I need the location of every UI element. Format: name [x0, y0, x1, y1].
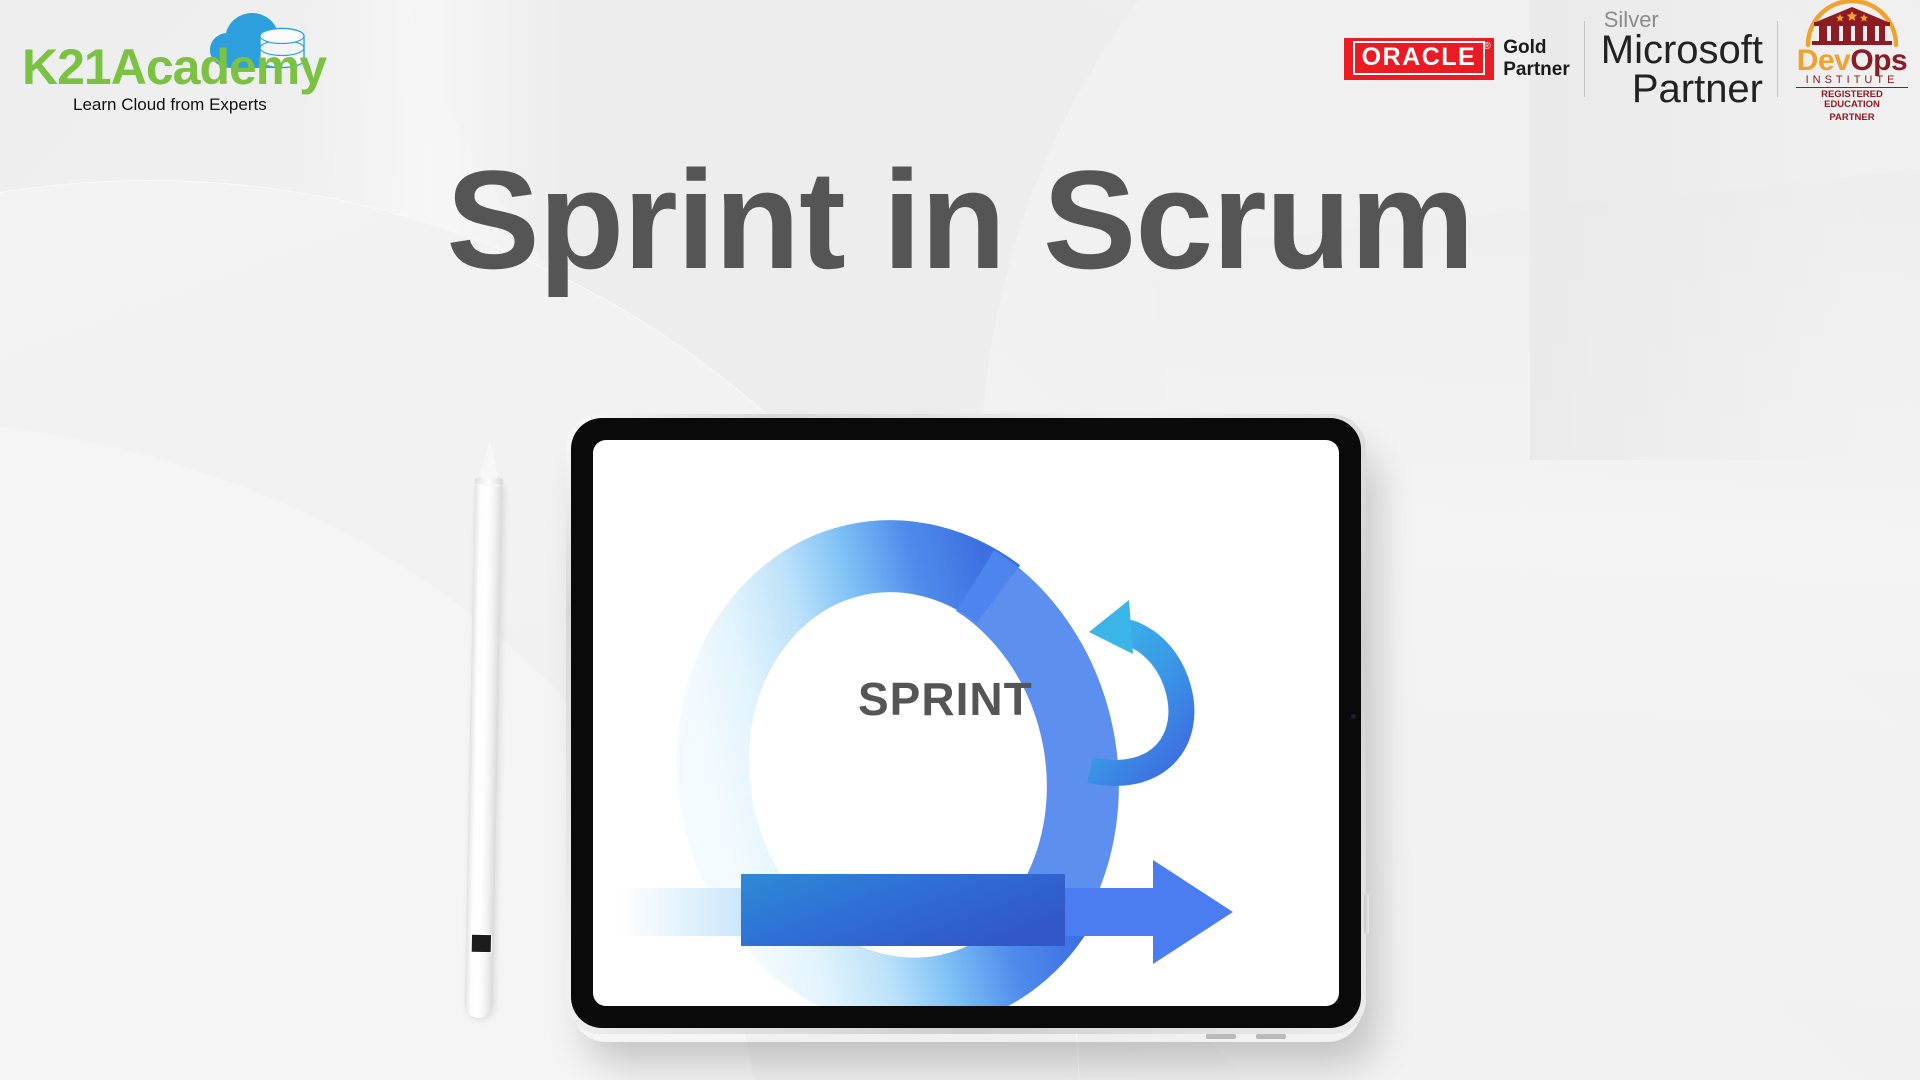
microsoft-wordmark: Microsoft [1601, 31, 1763, 69]
oracle-gold-partner-logo: ORACLE ® Gold Partner [1344, 37, 1584, 81]
tablet-foot-left [1206, 1034, 1236, 1039]
devops-dev-text: Dev [1797, 44, 1851, 77]
stylus-label [471, 934, 492, 953]
sprint-cycle-graphic: SPRINT [593, 440, 1339, 1006]
sprint-center-label: SPRINT [858, 673, 1033, 725]
oracle-wordmark-badge: ORACLE ® [1344, 38, 1495, 80]
tablet-screen[interactable]: SPRINT [593, 440, 1339, 1006]
oracle-level-line1: Gold [1503, 37, 1570, 59]
brand-name: K21Academy [22, 38, 326, 96]
tablet-camera-icon [1351, 714, 1356, 719]
oracle-registered-mark: ® [1483, 42, 1492, 52]
devops-institute-logo: DevOps INSTITUTE REGISTERED EDUCATION PA… [1778, 0, 1912, 123]
page-title: Sprint in Scrum [0, 150, 1920, 290]
partner-logos-bar: ORACLE ® Gold Partner Silver Microsoft P… [1344, 6, 1912, 112]
sprint-loop-bar-overlap [741, 874, 1065, 946]
devops-registered-line2: PARTNER [1792, 113, 1912, 124]
oracle-partner-level: Gold Partner [1503, 37, 1570, 81]
tablet-side-button[interactable] [1364, 894, 1369, 934]
oracle-level-line2: Partner [1503, 59, 1570, 81]
devops-registered-line1: REGISTERED EDUCATION [1792, 90, 1912, 111]
devops-ops-text: Ops [1850, 44, 1907, 77]
sprint-loop-right-segment [975, 566, 1110, 903]
tablet-foot-right [1256, 1034, 1286, 1039]
devops-institute-text: INSTITUTE [1796, 74, 1908, 88]
brand-tagline: Learn Cloud from Experts [73, 95, 267, 115]
slide-canvas: K21Academy Learn Cloud from Experts ORAC… [0, 0, 1920, 1080]
oracle-wordmark: ORACLE [1353, 41, 1486, 75]
stylus-tip-edge [475, 478, 503, 485]
brand-logo[interactable]: K21Academy Learn Cloud from Experts [18, 8, 308, 118]
microsoft-partner-word: Partner [1601, 69, 1763, 109]
devops-wordmark: DevOps [1792, 47, 1912, 74]
tablet-device: SPRINT [566, 414, 1366, 1034]
devops-temple-arch-icon [1800, 0, 1904, 47]
microsoft-silver-partner-logo: Silver Microsoft Partner [1585, 9, 1777, 109]
